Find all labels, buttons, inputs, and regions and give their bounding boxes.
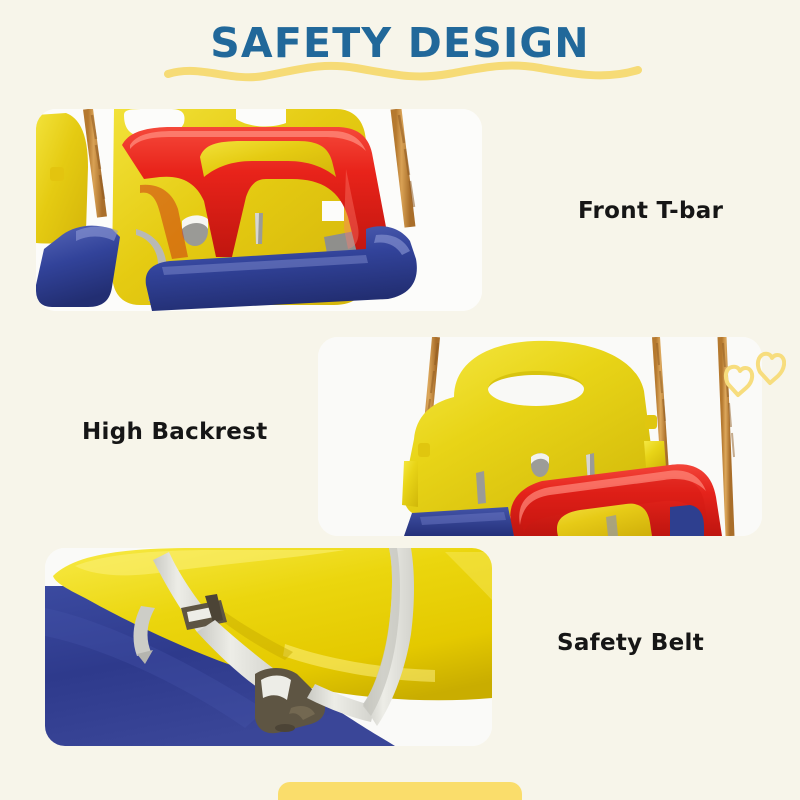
bottom-accent-bar	[278, 782, 522, 800]
label-high-backrest: High Backrest	[82, 419, 268, 445]
label-safety-belt: Safety Belt	[557, 630, 704, 656]
label-front-t-bar: Front T-bar	[578, 198, 723, 224]
wavy-underline-icon	[160, 58, 660, 88]
photo-front-t-bar	[36, 109, 482, 311]
hearts-icon	[722, 342, 786, 398]
photo-safety-belt	[45, 548, 492, 746]
photo-high-backrest	[318, 337, 762, 536]
infographic-canvas: SAFETY DESIGN	[0, 0, 800, 800]
